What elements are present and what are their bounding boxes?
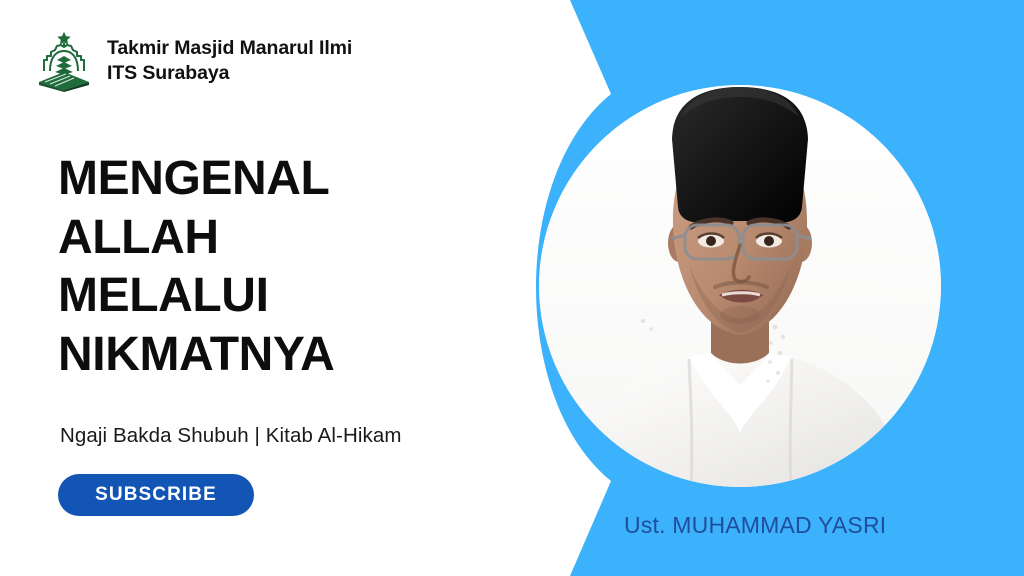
- subscribe-button[interactable]: SUBSCRIBE: [58, 474, 254, 516]
- speaker-photo-circle: [539, 85, 941, 487]
- mosque-logo-icon: [35, 30, 93, 92]
- speaker-portrait-illustration: [539, 85, 941, 487]
- subtitle-text: Ngaji Bakda Shubuh | Kitab Al-Hikam: [60, 424, 402, 448]
- left-content-column: Takmir Masjid Manarul Ilmi ITS Surabaya …: [0, 0, 520, 576]
- thumbnail-canvas: Ust. MUHAMMAD YASRI: [0, 0, 1024, 576]
- brand-name-text: Takmir Masjid Manarul Ilmi ITS Surabaya: [107, 36, 352, 86]
- page-title: MENGENAL ALLAH MELALUI NIKMATNYA: [58, 150, 498, 384]
- brand-lockup: Takmir Masjid Manarul Ilmi ITS Surabaya: [35, 30, 352, 92]
- speaker-name-label: Ust. MUHAMMAD YASRI: [624, 512, 886, 539]
